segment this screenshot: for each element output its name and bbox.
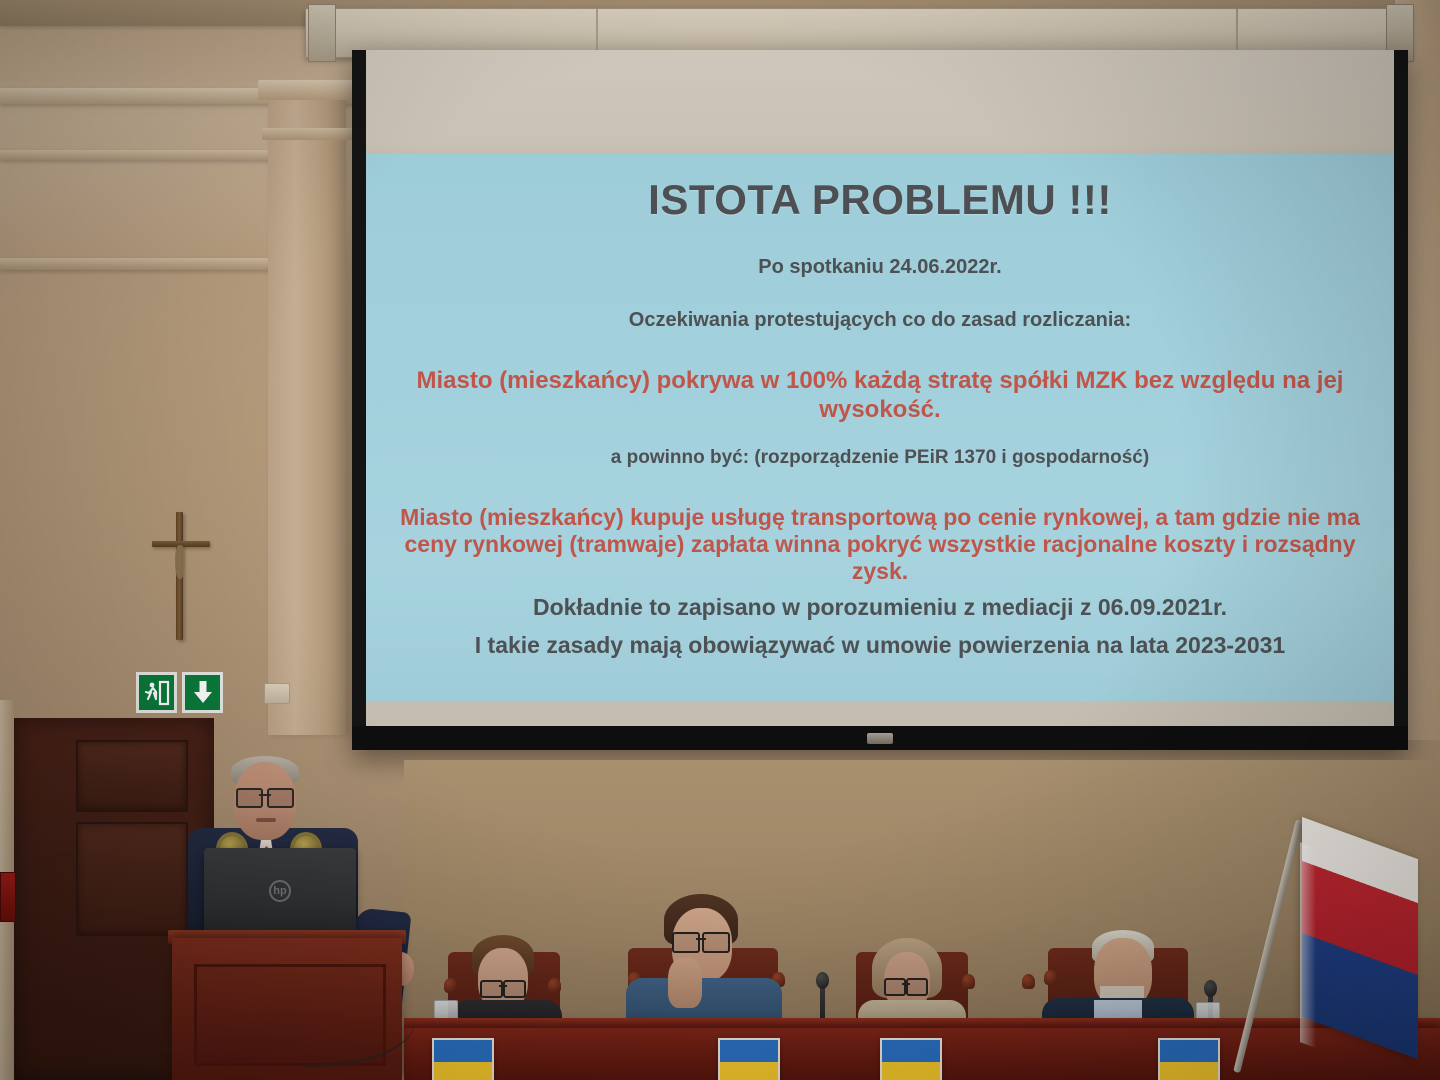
screen-pull-handle[interactable] [867, 733, 893, 744]
slide-expectations-line: Oczekiwania protestujących co do zasad r… [386, 309, 1374, 332]
slide-rules-line: I takie zasady mają obowiązywać w umowie… [386, 632, 1374, 659]
emergency-exit-down-arrow-icon [182, 672, 223, 713]
slide-should-be-line: a powinno być: (rozporządzenie PEiR 1370… [386, 447, 1374, 469]
laptop[interactable]: hp [204, 848, 356, 934]
emergency-exit-running-man-icon [136, 672, 177, 713]
projection-screen: ISTOTA PROBLEMU !!! Po spotkaniu 24.06.2… [352, 50, 1408, 750]
pilaster-capital-lower [262, 128, 352, 140]
panel-member-2-glasses [672, 932, 730, 949]
slide-meeting-line: Po spotkaniu 24.06.2022r. [386, 256, 1374, 279]
pilaster-capital [258, 80, 354, 100]
ukraine-flag-plate-3 [880, 1038, 942, 1080]
panel-microphone-head-4 [1204, 980, 1217, 997]
ukraine-flag-plate-2 [718, 1038, 780, 1080]
slide-highlight-block-1: Miasto (mieszkańcy) pokrywa w 100% każdą… [386, 366, 1374, 425]
slide-highlight-block-2: Miasto (mieszkańcy) kupuje usługę transp… [386, 504, 1374, 585]
wall-socket [264, 683, 290, 704]
presentation-slide: ISTOTA PROBLEMU !!! Po spotkaniu 24.06.2… [366, 154, 1394, 702]
panel-member-3-glasses [884, 978, 928, 992]
panel-member-1-glasses [480, 980, 526, 994]
screen-bottom-bar [352, 726, 1408, 750]
speaker-glasses [236, 788, 294, 804]
screen-bracket-left [308, 4, 336, 62]
ukraine-flag-plate-1 [432, 1038, 494, 1080]
ukraine-flag-plate-4 [1158, 1038, 1220, 1080]
city-flag [1302, 817, 1418, 1059]
slide-exact-line: Dokładnie to zapisano w porozumieniu z m… [386, 594, 1374, 621]
speaker-mouth [256, 818, 276, 822]
crucifix-figure [175, 545, 185, 579]
slide-title: ISTOTA PROBLEMU !!! [366, 176, 1394, 224]
panel-microphone-head-2 [816, 972, 829, 989]
fire-extinguisher-box [0, 872, 16, 922]
screen-surface: ISTOTA PROBLEMU !!! Po spotkaniu 24.06.2… [366, 50, 1394, 728]
hp-logo-icon: hp [269, 880, 291, 902]
flag-fold [1300, 842, 1316, 1048]
council-chamber-photo: ISTOTA PROBLEMU !!! Po spotkaniu 24.06.2… [0, 0, 1440, 1080]
wall-pilaster [268, 95, 346, 735]
